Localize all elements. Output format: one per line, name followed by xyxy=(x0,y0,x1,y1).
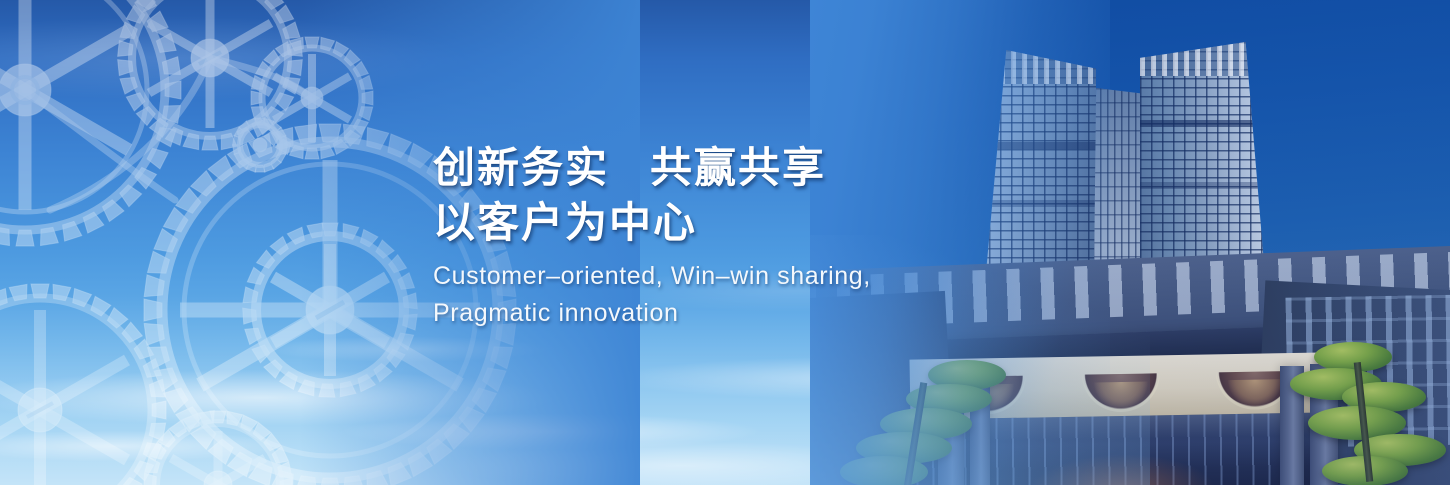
headline-cn-line-1: 创新务实 共赢共享 xyxy=(433,141,871,196)
headline-text-block: 创新务实 共赢共享 以客户为中心 Customer–oriented, Win–… xyxy=(433,141,871,332)
tower-left-band-2 xyxy=(978,200,1096,207)
subhead-en-line-1: Customer–oriented, Win–win sharing, xyxy=(433,258,871,295)
entrance-interior-glow xyxy=(1026,452,1216,485)
topiary-cluster-right xyxy=(1280,342,1450,485)
topiary-cluster-left xyxy=(840,360,1010,485)
corporate-headquarters-tower-photo xyxy=(810,0,1450,485)
tower-right-band-2 xyxy=(1140,182,1272,189)
subhead-en-line-2: Pragmatic innovation xyxy=(433,295,871,332)
canopy-light-fixture-2 xyxy=(1082,373,1161,412)
headline-cn-line-2: 以客户为中心 xyxy=(433,196,871,251)
hero-banner: 创新务实 共赢共享 以客户为中心 Customer–oriented, Win–… xyxy=(0,0,1450,485)
